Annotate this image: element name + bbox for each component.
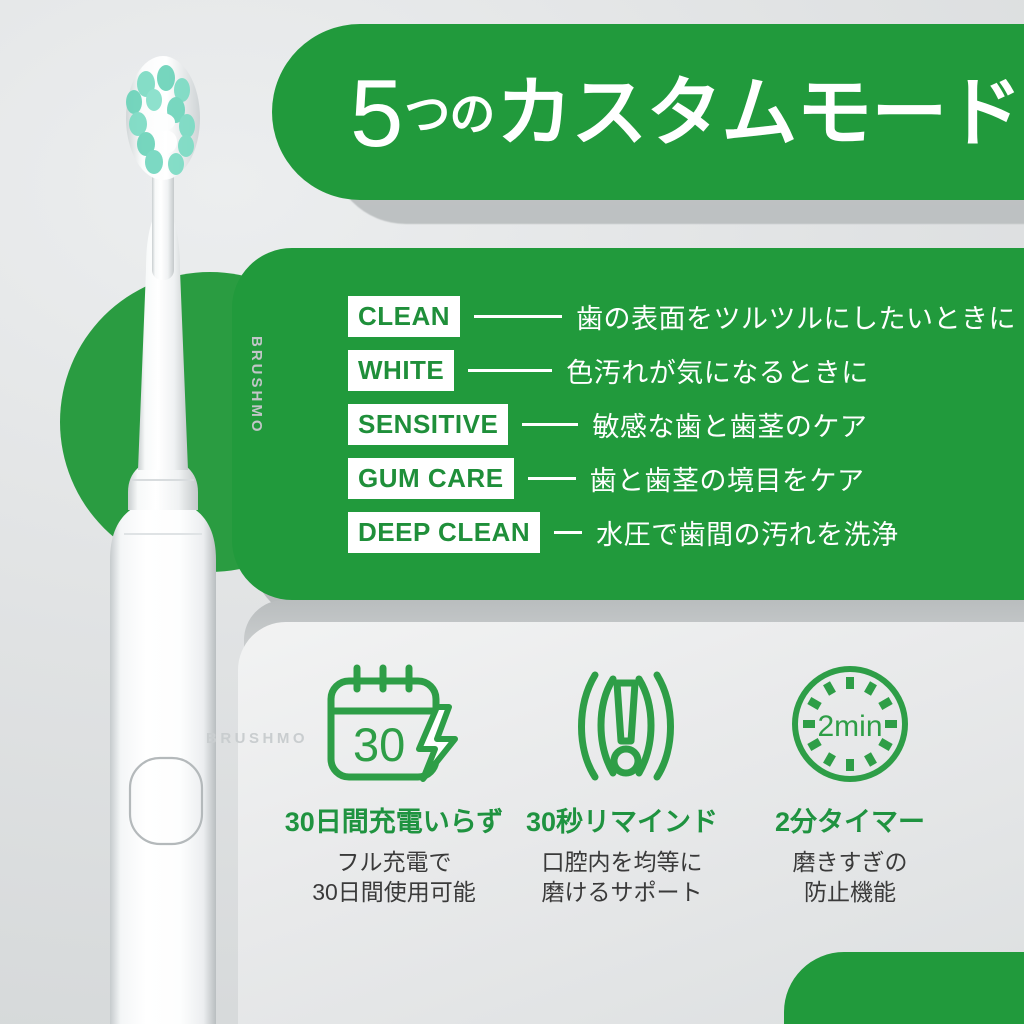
mode-label-deep-clean: DEEP CLEAN — [348, 512, 540, 553]
page-title: 5 つの カスタムモード — [350, 52, 1010, 176]
feature-30-second-reminder: 30秒リマインド 口腔内を均等に 磨けるサポート — [508, 664, 736, 908]
mode-connector-line — [468, 369, 552, 372]
mode-description-deep-clean: 水圧で歯間の汚れを洗浄 — [596, 513, 899, 552]
timer-2min-icon: 2min — [775, 664, 925, 784]
mode-list: CLEAN 歯の表面をツルツルにしたいときに WHITE 色汚れが気になるときに… — [348, 296, 1024, 552]
vibration-alert-icon — [547, 664, 697, 784]
mode-row: CLEAN 歯の表面をツルツルにしたいときに — [348, 296, 1024, 336]
mode-description-sensitive: 敏感な歯と歯茎のケア — [592, 405, 867, 444]
calendar-30-bolt-icon: 30 — [319, 664, 469, 784]
feature-list: 30 30日間充電いらず フル充電で 30日間使用可能 — [280, 664, 1000, 908]
svg-text:2min: 2min — [817, 710, 882, 743]
mode-description-gum-care: 歯と歯茎の境目をケア — [590, 459, 865, 498]
mode-label-clean: CLEAN — [348, 296, 460, 337]
feature-subtitle-line2: 30日間使用可能 — [312, 879, 476, 905]
toothbrush-product-image: BRUSHMO BRUSHMO — [88, 40, 288, 1024]
feature-subtitle-line1: フル充電で — [337, 849, 452, 875]
toothbrush-illustration — [88, 40, 288, 1024]
infographic-canvas: 5 つの カスタムモード CLEAN 歯の表面をツルツルにしたいときに WHIT… — [0, 0, 1024, 1024]
header-title-main: カスタムモード — [496, 76, 1021, 152]
feature-battery-life: 30 30日間充電いらず フル充電で 30日間使用可能 — [280, 664, 508, 908]
feature-subtitle-line2: 磨けるサポート — [542, 879, 703, 905]
mode-row: GUM CARE 歯と歯茎の境目をケア — [348, 458, 1024, 498]
mode-connector-line — [474, 315, 562, 318]
feature-subtitle: 口腔内を均等に 磨けるサポート — [542, 847, 703, 908]
corner-accent-shape — [784, 952, 1024, 1024]
header-count-suffix: つの — [404, 91, 494, 137]
mode-description-white: 色汚れが気になるときに — [566, 351, 869, 390]
feature-subtitle: 磨きすぎの 防止機能 — [793, 847, 908, 908]
feature-subtitle: フル充電で 30日間使用可能 — [312, 847, 476, 908]
mode-row: SENSITIVE 敏感な歯と歯茎のケア — [348, 404, 1024, 444]
feature-title: 30秒リマインド — [526, 800, 718, 839]
feature-subtitle-line1: 磨きすぎの — [793, 849, 908, 875]
mode-label-sensitive: SENSITIVE — [348, 404, 508, 445]
mode-description-clean: 歯の表面をツルツルにしたいときに — [576, 297, 1016, 336]
feature-title: 2分タイマー — [775, 800, 925, 839]
feature-2-minute-timer: 2min 2分タイマー 磨きすぎの 防止機能 — [736, 664, 964, 908]
mode-label-white: WHITE — [348, 350, 454, 391]
mode-connector-line — [554, 531, 582, 534]
mode-connector-line — [522, 423, 578, 426]
mode-row: DEEP CLEAN 水圧で歯間の汚れを洗浄 — [348, 512, 1024, 552]
mode-row: WHITE 色汚れが気になるときに — [348, 350, 1024, 390]
header-count: 5 — [350, 66, 402, 162]
feature-subtitle-line2: 防止機能 — [804, 879, 896, 905]
brand-label-handle: BRUSHMO — [206, 730, 308, 747]
brand-label-neck: BRUSHMO — [248, 336, 265, 435]
mode-connector-line — [528, 477, 576, 480]
mode-label-gum-care: GUM CARE — [348, 458, 514, 499]
svg-text:30: 30 — [353, 718, 405, 771]
feature-subtitle-line1: 口腔内を均等に — [542, 849, 703, 875]
feature-title: 30日間充電いらず — [285, 800, 504, 839]
